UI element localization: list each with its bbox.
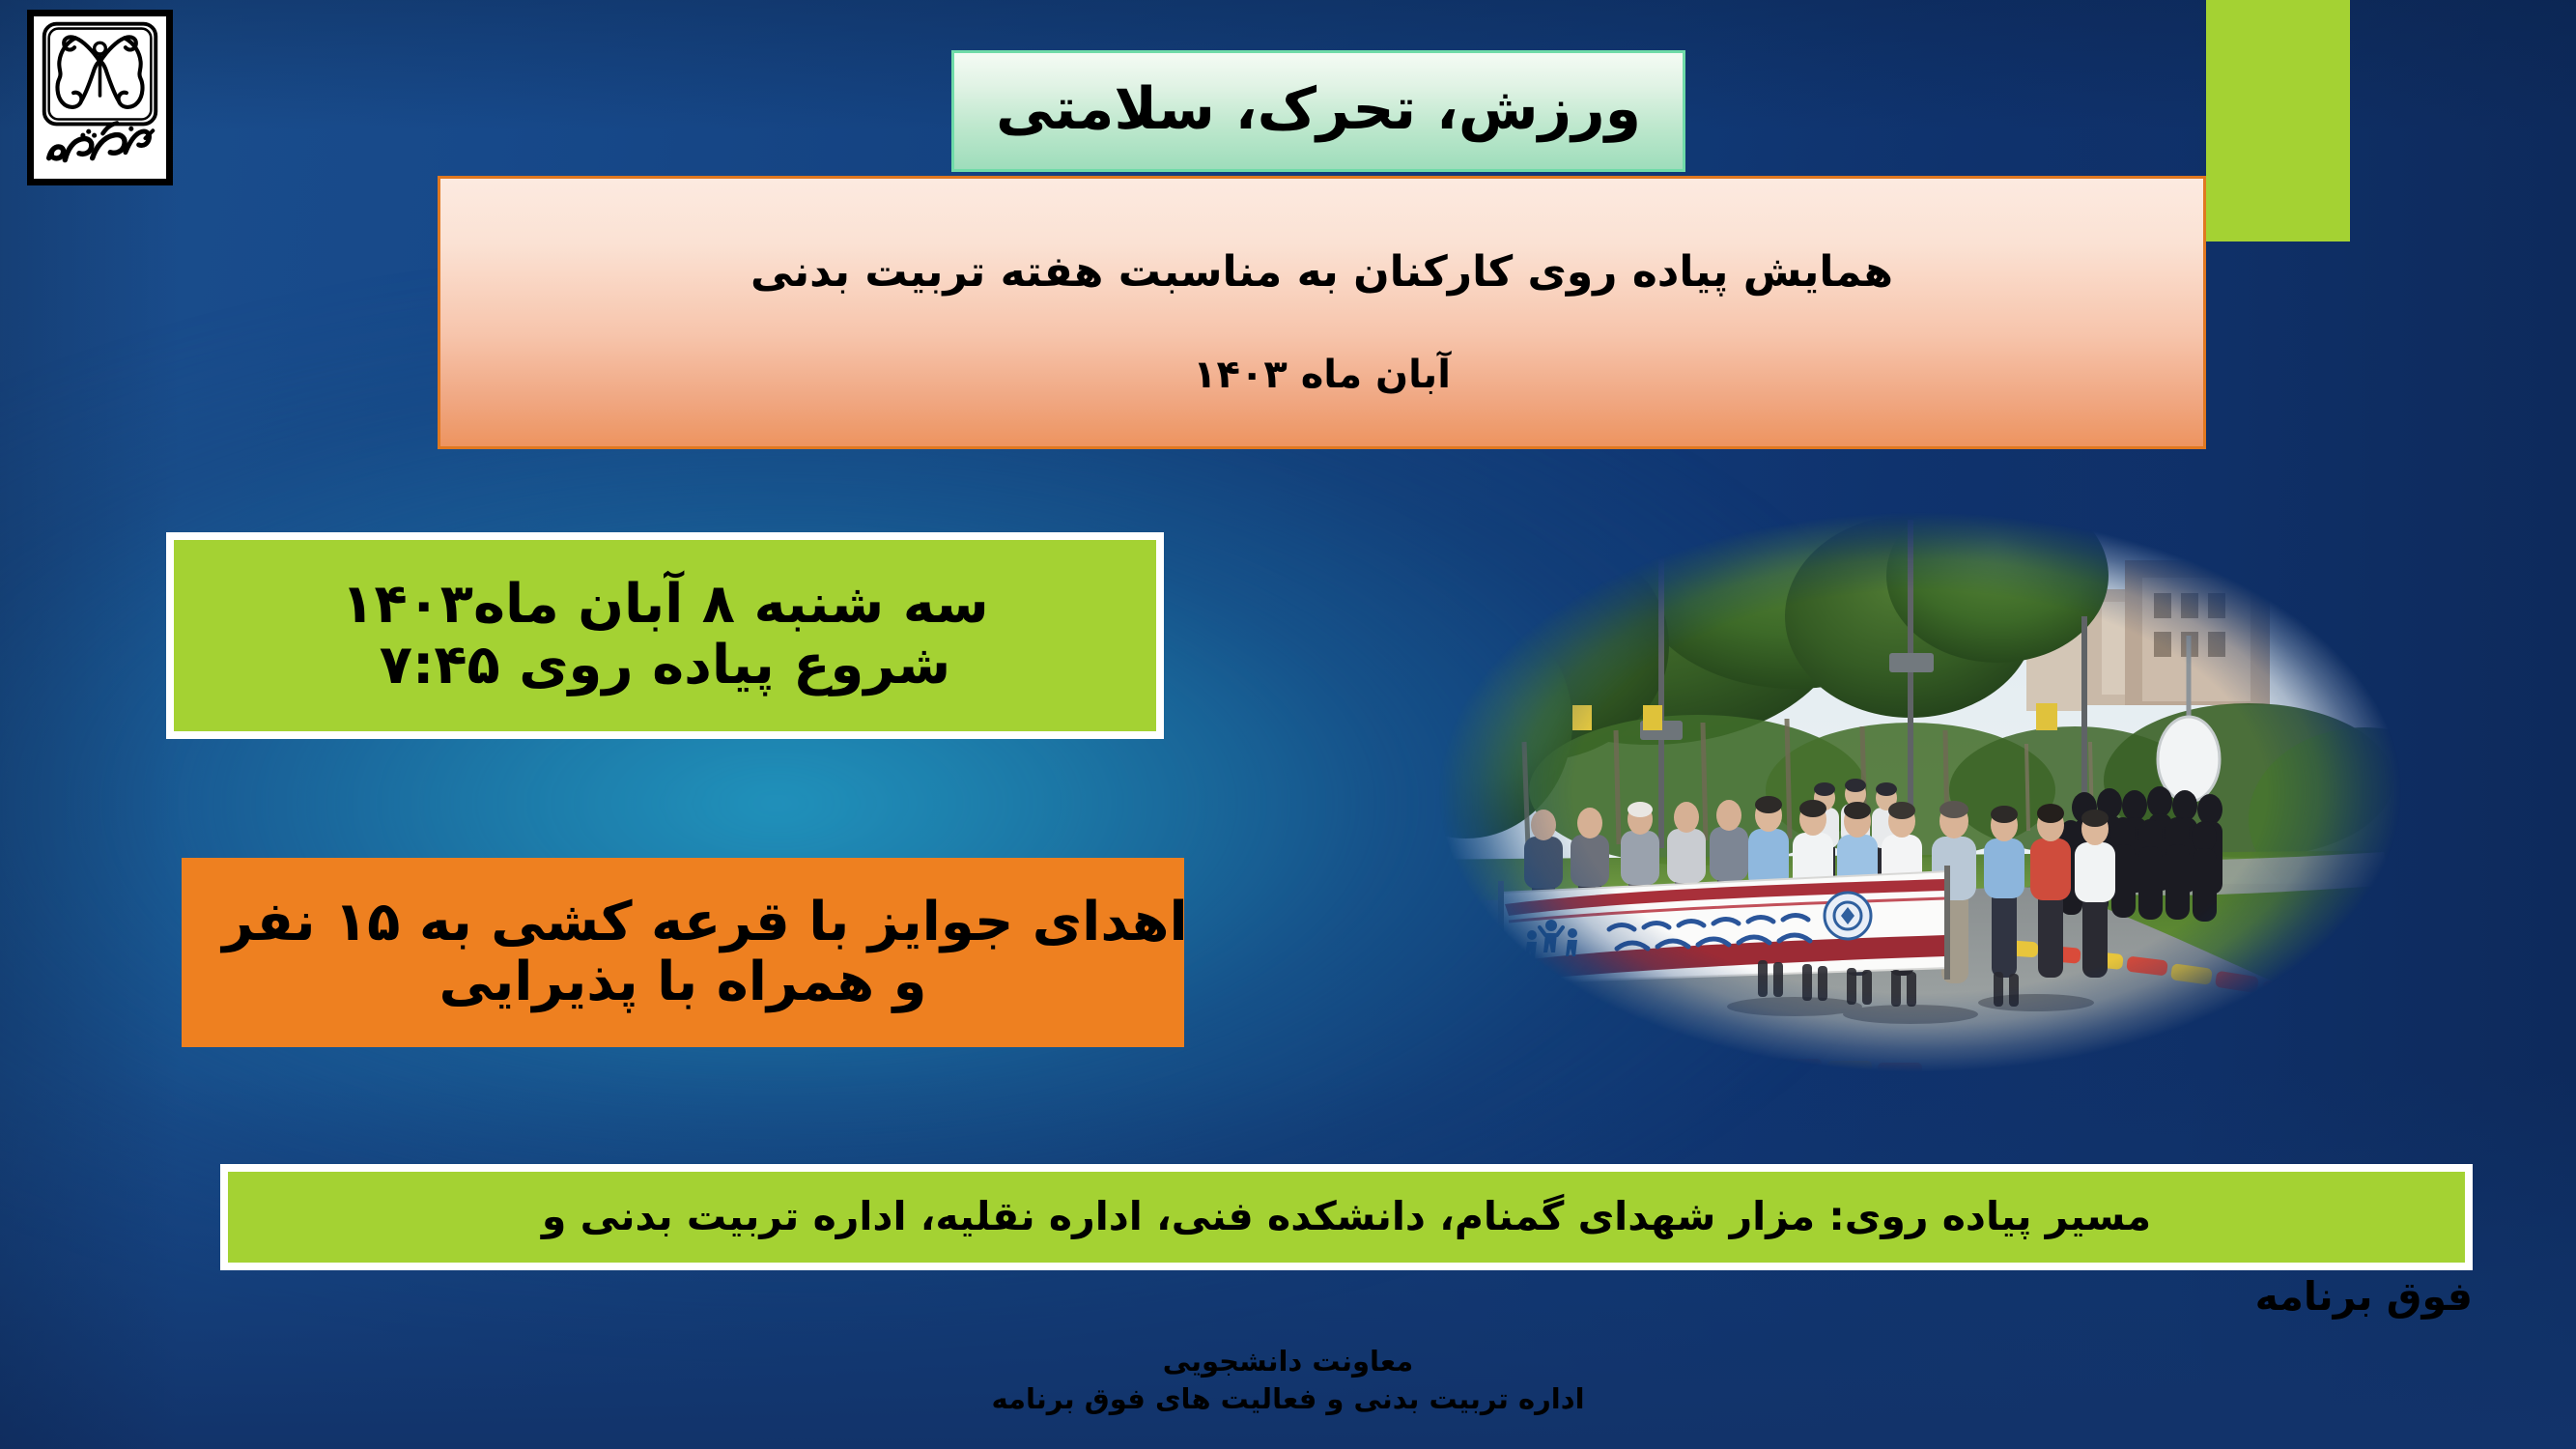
route-fill: مسیر پیاده روی: مزار شهدای گمنام، دانشکد… — [228, 1172, 2465, 1263]
footer-deputy-text: معاونت دانشجویی — [0, 1343, 2576, 1380]
prize-lottery-text: اهدای جوایز با قرعه کشی به ۱۵ نفر — [159, 893, 1251, 952]
route-overflow-text: فوق برنامه — [2255, 1273, 2473, 1320]
walking-event-photo — [1408, 500, 2432, 1084]
footer-credits: معاونت دانشجویی اداره تربیت بدنی و فعالی… — [0, 1343, 2576, 1418]
event-date-text: سه شنبه ۸ آبان ماه۱۴۰۳ — [341, 575, 988, 636]
date-time-banner: سه شنبه ۸ آبان ماه۱۴۰۳ شروع پیاده روی ۷:… — [166, 532, 1164, 739]
date-time-fill: سه شنبه ۸ آبان ماه۱۴۰۳ شروع پیاده روی ۷:… — [174, 540, 1156, 731]
title-banner: ورزش، تحرک، سلامتی — [951, 50, 1685, 172]
headline-date-text: آبان ماه ۱۴۰۳ — [1193, 353, 1451, 397]
headline-banner: همایش پیاده روی کارکنان به مناسبت هفته ت… — [438, 176, 2206, 449]
poster-canvas: ورزش، تحرک، سلامتی همایش پیاده روی کارکن… — [0, 0, 2576, 1449]
route-text: مسیر پیاده روی: مزار شهدای گمنام، دانشکد… — [542, 1196, 2151, 1237]
university-logo-icon — [34, 16, 166, 179]
university-logo — [27, 10, 173, 185]
title-text: ورزش، تحرک، سلامتی — [996, 80, 1641, 142]
headline-primary-text: همایش پیاده روی کارکنان به مناسبت هفته ت… — [750, 247, 1893, 297]
green-accent-bar — [2206, 0, 2350, 241]
footer-department-text: اداره تربیت بدنی و فعالیت های فوق برنامه — [0, 1380, 2576, 1418]
route-banner: مسیر پیاده روی: مزار شهدای گمنام، دانشکد… — [220, 1164, 2473, 1270]
event-start-time-text: شروع پیاده روی ۷:۴۵ — [380, 636, 950, 696]
walking-event-photo-clip — [1408, 500, 2432, 1084]
prizes-banner: اهدای جوایز با قرعه کشی به ۱۵ نفر و همرا… — [182, 858, 1184, 1047]
prize-refreshments-text: و همراه با پذیرایی — [439, 952, 927, 1012]
